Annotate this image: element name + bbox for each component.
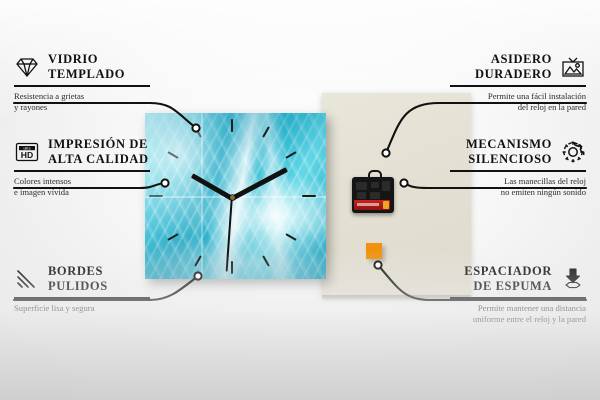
feature-title-line2: TEMPLADO <box>48 67 125 81</box>
feature-description: Colores intensos e imagen vívida <box>14 176 150 198</box>
clock-tick <box>231 261 233 274</box>
mechanism-port <box>356 182 367 190</box>
feature-divider <box>450 85 586 87</box>
feature-title-line1: VIDRIO <box>48 52 98 66</box>
feature-divider <box>450 170 586 172</box>
feature-title-line1: IMPRESIÓN DE <box>48 137 148 151</box>
feature-title-line1: ESPACIADOR <box>464 264 552 278</box>
clock-tick <box>302 195 316 197</box>
mechanism-port <box>370 192 380 199</box>
battery-label <box>357 203 379 206</box>
mechanism-shaft <box>368 170 382 180</box>
foam-spacer <box>366 243 382 259</box>
feature-title-line2: PULIDOS <box>48 279 108 293</box>
mechanism-port <box>357 192 366 199</box>
polished-edges-icon <box>14 266 40 292</box>
svg-text:HD: HD <box>21 150 33 160</box>
feature-asidero-duradero[interactable]: ASIDERO DURADERO Permite una fácil insta… <box>450 52 586 113</box>
feature-description: Superficie lisa y segura <box>14 303 150 314</box>
feature-title-line2: DE ESPUMA <box>473 279 552 293</box>
clock-hand-hub <box>230 195 235 200</box>
feature-description: Permite una fácil instalación del reloj … <box>450 91 586 113</box>
clock-tick <box>149 195 163 197</box>
feature-divider <box>14 85 150 87</box>
background-board <box>322 93 471 297</box>
feature-title-line1: ASIDERO <box>491 52 552 66</box>
feature-bordes-pulidos[interactable]: BORDES PULIDOS Superficie lisa y segura <box>14 264 150 314</box>
glass-wall-clock <box>145 113 326 279</box>
feature-description: Permite mantener una distancia uniforme … <box>450 303 586 325</box>
battery-positive-terminal <box>383 201 389 209</box>
mechanism-port <box>371 182 379 188</box>
feature-impresion-alta-calidad[interactable]: ultra HD IMPRESIÓN DE ALTA CALIDAD Color… <box>14 137 150 198</box>
clock-tick <box>231 119 233 132</box>
feature-description: Resistencia a grietas y rayones <box>14 91 150 113</box>
mechanism-port <box>382 181 390 191</box>
picture-hanger-icon <box>560 54 586 80</box>
feature-espaciador-de-espuma[interactable]: ESPACIADOR DE ESPUMA Permite mantener un… <box>450 264 586 325</box>
feature-mecanismo-silencioso[interactable]: MECANISMO SILENCIOSO Las manecillas del … <box>450 137 586 198</box>
feature-title-line2: ALTA CALIDAD <box>48 152 149 166</box>
battery <box>354 200 390 210</box>
gear-icon <box>560 139 586 165</box>
ultra-hd-icon: ultra HD <box>14 139 40 165</box>
feature-divider <box>14 297 150 299</box>
feature-description: Las manecillas del reloj no emiten ningú… <box>450 176 586 198</box>
feature-divider <box>450 297 586 299</box>
feature-title-line2: DURADERO <box>475 67 552 81</box>
feature-divider <box>14 170 150 172</box>
feature-title-line1: MECANISMO <box>466 137 552 151</box>
diamond-icon <box>14 54 40 80</box>
feature-title-line2: SILENCIOSO <box>468 152 552 166</box>
feature-title-line1: BORDES <box>48 264 103 278</box>
feature-vidrio-templado[interactable]: VIDRIO TEMPLADO Resistencia a grietas y … <box>14 52 150 113</box>
clock-mechanism <box>352 177 394 213</box>
foam-spacer-icon <box>560 266 586 292</box>
infographic-canvas: VIDRIO TEMPLADO Resistencia a grietas y … <box>0 0 600 400</box>
